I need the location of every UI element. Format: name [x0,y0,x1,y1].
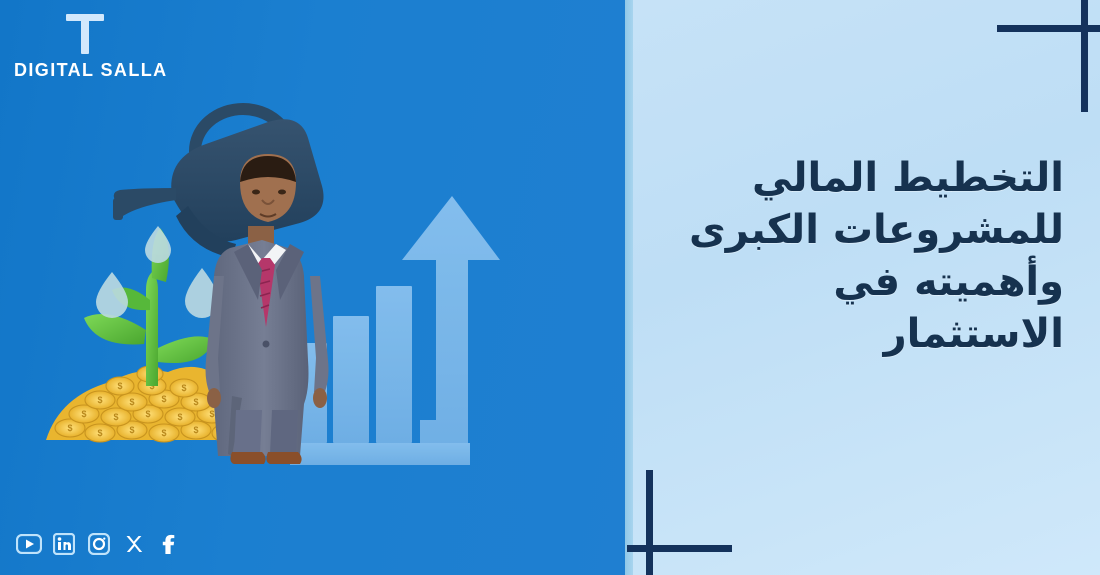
svg-text:$: $ [193,425,198,435]
instagram-icon [88,533,110,555]
headline-line-2: للمشروعات الكبرى [664,204,1064,256]
bottom-left-cross-horizontal [627,545,732,552]
youtube-icon [16,534,42,554]
svg-text:$: $ [129,397,134,407]
brand-name: DIGITAL SALLA [14,60,168,81]
headline-line-3: وأهميته في [664,256,1064,308]
top-right-cross-vertical [1081,0,1088,112]
facebook-icon [161,533,177,555]
headline-line-4: الاستثمار [664,308,1064,360]
linkedin-icon [53,533,75,555]
social-link-youtube[interactable] [16,531,42,557]
headline-line-1: التخطيط المالي [664,152,1064,204]
svg-text:$: $ [67,423,72,433]
svg-text:$: $ [145,409,150,419]
top-right-cross-horizontal [997,25,1100,32]
svg-text:$: $ [177,412,182,422]
svg-text:$: $ [193,397,198,407]
letter-t-monogram-icon [62,10,108,56]
panel-divider [625,0,633,575]
bottom-left-cross-vertical [646,470,653,575]
x-icon [123,533,145,555]
page-title: التخطيط المالي للمشروعات الكبرى وأهميته … [664,152,1064,360]
social-links-bar [16,531,182,557]
svg-text:$: $ [161,428,166,438]
social-link-x[interactable] [121,531,147,557]
social-link-facebook[interactable] [156,531,182,557]
svg-text:$: $ [129,425,134,435]
svg-text:$: $ [117,381,122,391]
svg-text:$: $ [113,412,118,422]
svg-text:$: $ [97,428,102,438]
brand-logo[interactable]: DIGITAL SALLA [8,8,168,92]
poster-canvas: $$ $$ $$ $$ $$ $$ $$ $$ $$ [0,0,1100,575]
svg-text:$: $ [81,409,86,419]
svg-text:$: $ [97,395,102,405]
svg-text:$: $ [181,383,186,393]
social-link-instagram[interactable] [86,531,112,557]
svg-text:$: $ [161,394,166,404]
svg-text:$: $ [209,409,214,419]
social-link-linkedin[interactable] [51,531,77,557]
